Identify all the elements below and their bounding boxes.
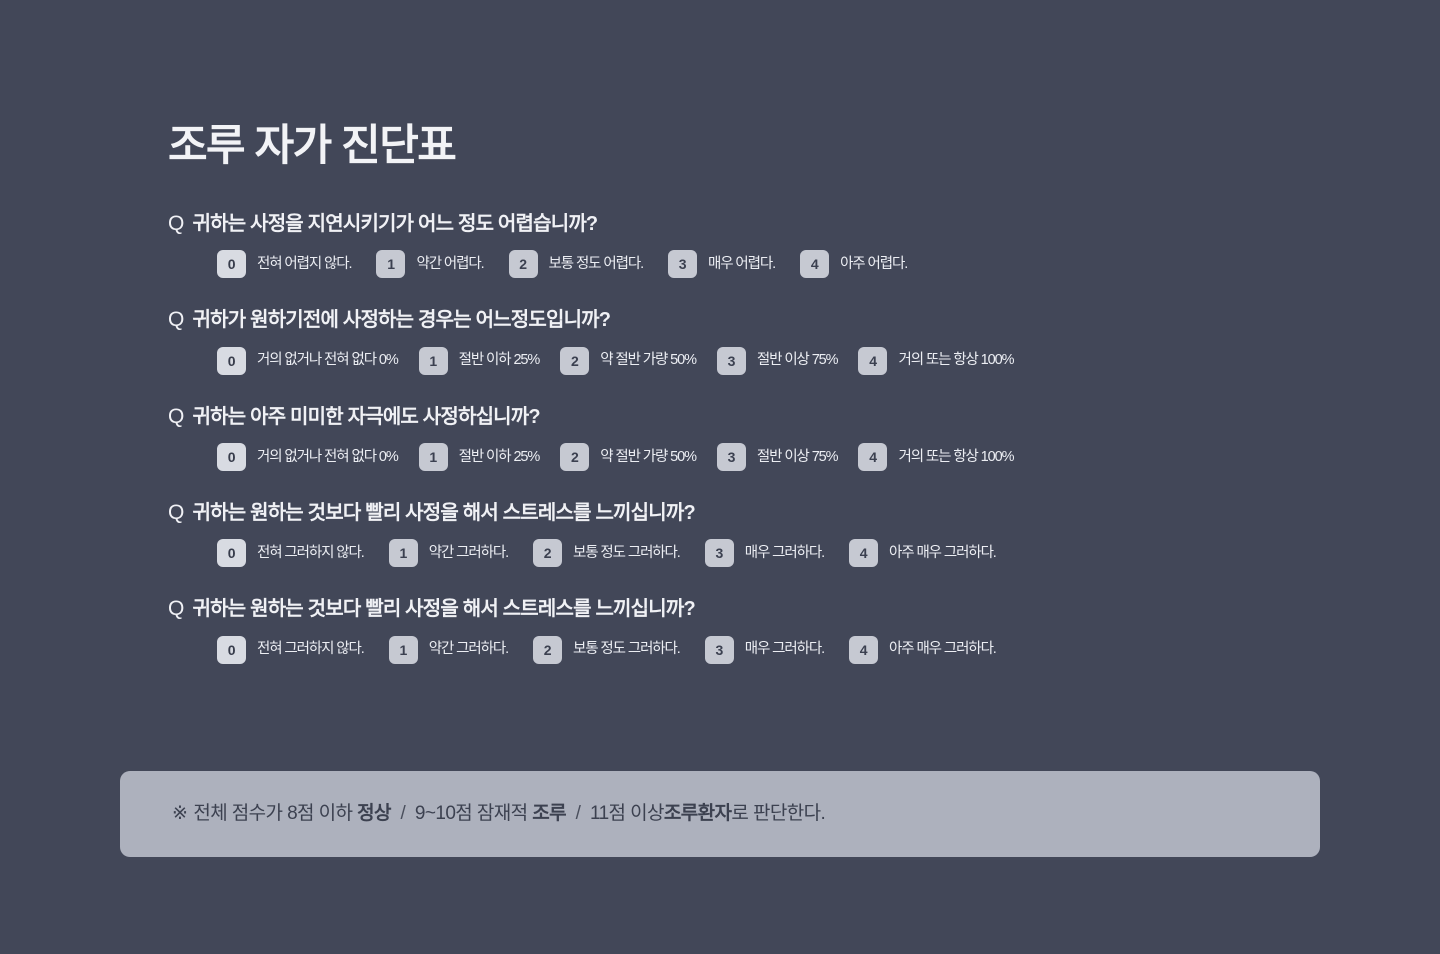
- option-score-badge[interactable]: 4: [849, 539, 878, 567]
- option-row: 0거의 없거나 전혀 없다 0%1절반 이하 25%2약 절반 가량 50%3절…: [168, 443, 1288, 471]
- option-row: 0전혀 그러하지 않다.1약간 그러하다.2보통 정도 그러하다.3매우 그러하…: [168, 636, 1288, 664]
- option-label: 절반 이상 75%: [757, 450, 838, 465]
- question-block: Q귀하는 원하는 것보다 빨리 사정을 해서 스트레스를 느끼십니까?0전혀 그…: [168, 499, 1288, 567]
- note-bold-patient: 조루환자: [664, 803, 732, 824]
- answer-option[interactable]: 0전혀 그러하지 않다.: [217, 539, 364, 567]
- note-part-2: 9~10점 잠재적: [415, 803, 528, 824]
- option-score-badge[interactable]: 4: [849, 636, 878, 664]
- option-label: 아주 어렵다.: [840, 257, 907, 272]
- option-label: 보통 정도 그러하다.: [573, 546, 680, 561]
- option-score-badge[interactable]: 2: [533, 636, 562, 664]
- answer-option[interactable]: 2약 절반 가량 50%: [560, 443, 696, 471]
- note-symbol-icon: ※: [172, 803, 187, 824]
- answer-option[interactable]: 3절반 이상 75%: [717, 347, 838, 375]
- option-label: 거의 없거나 전혀 없다 0%: [257, 353, 398, 368]
- question-block: Q귀하는 아주 미미한 자극에도 사정하십니까?0거의 없거나 전혀 없다 0%…: [168, 403, 1288, 471]
- answer-option[interactable]: 3매우 그러하다.: [705, 539, 824, 567]
- answer-option[interactable]: 1약간 그러하다.: [389, 636, 508, 664]
- score-guide-note: ※전체 점수가 8점 이하 정상 / 9~10점 잠재적 조루 / 11점 이상…: [120, 771, 1320, 857]
- answer-option[interactable]: 2보통 정도 그러하다.: [533, 539, 680, 567]
- answer-option[interactable]: 2보통 정도 그러하다.: [533, 636, 680, 664]
- option-score-badge[interactable]: 4: [858, 347, 887, 375]
- option-label: 약 절반 가량 50%: [600, 450, 696, 465]
- option-score-badge[interactable]: 3: [705, 636, 734, 664]
- note-bold-potential: 조루: [532, 803, 566, 824]
- option-score-badge[interactable]: 3: [668, 250, 697, 278]
- option-score-badge[interactable]: 1: [376, 250, 405, 278]
- option-score-badge[interactable]: 3: [717, 443, 746, 471]
- question-label: 귀하는 사정을 지연시키기가 어느 정도 어렵습니까?: [193, 211, 598, 238]
- answer-option[interactable]: 3매우 그러하다.: [705, 636, 824, 664]
- option-label: 아주 매우 그러하다.: [889, 546, 996, 561]
- answer-option[interactable]: 3절반 이상 75%: [717, 443, 838, 471]
- question-block: Q귀하가 원하기전에 사정하는 경우는 어느정도입니까?0거의 없거나 전혀 없…: [168, 306, 1288, 374]
- option-label: 전혀 그러하지 않다.: [257, 642, 364, 657]
- question-text-row: Q귀하는 원하는 것보다 빨리 사정을 해서 스트레스를 느끼십니까?: [168, 595, 1288, 623]
- answer-option[interactable]: 4아주 매우 그러하다.: [849, 539, 996, 567]
- option-label: 거의 또는 항상 100%: [898, 450, 1013, 465]
- option-score-badge[interactable]: 0: [217, 443, 246, 471]
- option-label: 매우 그러하다.: [745, 546, 824, 561]
- option-label: 보통 정도 어렵다.: [549, 257, 643, 272]
- option-score-badge[interactable]: 2: [560, 347, 589, 375]
- option-score-badge[interactable]: 3: [705, 539, 734, 567]
- answer-option[interactable]: 3매우 어렵다.: [668, 250, 775, 278]
- note-separator-2: /: [576, 803, 581, 824]
- question-text-row: Q귀하는 사정을 지연시키기가 어느 정도 어렵습니까?: [168, 210, 1288, 238]
- note-part-3: 11점 이상: [590, 803, 664, 824]
- option-row: 0전혀 그러하지 않다.1약간 그러하다.2보통 정도 그러하다.3매우 그러하…: [168, 539, 1288, 567]
- question-marker: Q: [168, 595, 184, 623]
- question-marker: Q: [168, 306, 184, 334]
- question-label: 귀하가 원하기전에 사정하는 경우는 어느정도입니까?: [193, 307, 611, 334]
- answer-option[interactable]: 2약 절반 가량 50%: [560, 347, 696, 375]
- answer-option[interactable]: 4아주 어렵다.: [800, 250, 907, 278]
- diagnosis-sheet: 조루 자가 진단표 Q귀하는 사정을 지연시키기가 어느 정도 어렵습니까?0전…: [0, 0, 1440, 954]
- answer-option[interactable]: 0전혀 어렵지 않다.: [217, 250, 351, 278]
- option-score-badge[interactable]: 1: [419, 443, 448, 471]
- option-label: 거의 없거나 전혀 없다 0%: [257, 450, 398, 465]
- answer-option[interactable]: 0전혀 그러하지 않다.: [217, 636, 364, 664]
- option-label: 절반 이상 75%: [757, 353, 838, 368]
- question-label: 귀하는 아주 미미한 자극에도 사정하십니까?: [193, 404, 540, 431]
- option-score-badge[interactable]: 1: [419, 347, 448, 375]
- question-text-row: Q귀하는 아주 미미한 자극에도 사정하십니까?: [168, 403, 1288, 431]
- option-label: 아주 매우 그러하다.: [889, 642, 996, 657]
- question-text-row: Q귀하가 원하기전에 사정하는 경우는 어느정도입니까?: [168, 306, 1288, 334]
- question-label: 귀하는 원하는 것보다 빨리 사정을 해서 스트레스를 느끼십니까?: [193, 500, 695, 527]
- answer-option[interactable]: 1절반 이하 25%: [419, 347, 540, 375]
- answer-option[interactable]: 1약간 그러하다.: [389, 539, 508, 567]
- option-score-badge[interactable]: 3: [717, 347, 746, 375]
- note-part-4: 로 판단한다.: [731, 803, 825, 824]
- answer-option[interactable]: 4아주 매우 그러하다.: [849, 636, 996, 664]
- question-block: Q귀하는 사정을 지연시키기가 어느 정도 어렵습니까?0전혀 어렵지 않다.1…: [168, 210, 1288, 278]
- option-score-badge[interactable]: 0: [217, 636, 246, 664]
- option-label: 약 절반 가량 50%: [600, 353, 696, 368]
- option-label: 거의 또는 항상 100%: [898, 353, 1013, 368]
- option-label: 약간 어렵다.: [416, 257, 483, 272]
- answer-option[interactable]: 1약간 어렵다.: [376, 250, 483, 278]
- question-text-row: Q귀하는 원하는 것보다 빨리 사정을 해서 스트레스를 느끼십니까?: [168, 499, 1288, 527]
- note-part-1: 전체 점수가 8점 이하: [193, 803, 352, 824]
- answer-option[interactable]: 4거의 또는 항상 100%: [858, 443, 1013, 471]
- option-label: 약간 그러하다.: [429, 642, 508, 657]
- option-row: 0거의 없거나 전혀 없다 0%1절반 이하 25%2약 절반 가량 50%3절…: [168, 347, 1288, 375]
- score-guide-text: ※전체 점수가 8점 이하 정상 / 9~10점 잠재적 조루 / 11점 이상…: [172, 802, 825, 827]
- option-score-badge[interactable]: 2: [533, 539, 562, 567]
- option-score-badge[interactable]: 0: [217, 250, 246, 278]
- page-title: 조루 자가 진단표: [168, 122, 455, 171]
- question-marker: Q: [168, 499, 184, 527]
- option-score-badge[interactable]: 0: [217, 347, 246, 375]
- option-score-badge[interactable]: 4: [858, 443, 887, 471]
- answer-option[interactable]: 4거의 또는 항상 100%: [858, 347, 1013, 375]
- answer-option[interactable]: 0거의 없거나 전혀 없다 0%: [217, 347, 398, 375]
- option-row: 0전혀 어렵지 않다.1약간 어렵다.2보통 정도 어렵다.3매우 어렵다.4아…: [168, 250, 1288, 278]
- question-block: Q귀하는 원하는 것보다 빨리 사정을 해서 스트레스를 느끼십니까?0전혀 그…: [168, 595, 1288, 663]
- option-score-badge[interactable]: 2: [560, 443, 589, 471]
- question-list: Q귀하는 사정을 지연시키기가 어느 정도 어렵습니까?0전혀 어렵지 않다.1…: [168, 210, 1288, 664]
- option-label: 전혀 그러하지 않다.: [257, 546, 364, 561]
- option-score-badge[interactable]: 4: [800, 250, 829, 278]
- answer-option[interactable]: 0거의 없거나 전혀 없다 0%: [217, 443, 398, 471]
- question-marker: Q: [168, 210, 184, 238]
- option-label: 매우 어렵다.: [708, 257, 775, 272]
- option-label: 약간 그러하다.: [429, 546, 508, 561]
- answer-option[interactable]: 1절반 이하 25%: [419, 443, 540, 471]
- note-separator-1: /: [401, 803, 406, 824]
- option-label: 전혀 어렵지 않다.: [257, 257, 351, 272]
- option-label: 매우 그러하다.: [745, 642, 824, 657]
- question-label: 귀하는 원하는 것보다 빨리 사정을 해서 스트레스를 느끼십니까?: [193, 596, 695, 623]
- option-score-badge[interactable]: 1: [389, 539, 418, 567]
- option-label: 절반 이하 25%: [459, 353, 540, 368]
- option-label: 보통 정도 그러하다.: [573, 642, 680, 657]
- answer-option[interactable]: 2보통 정도 어렵다.: [509, 250, 643, 278]
- option-score-badge[interactable]: 1: [389, 636, 418, 664]
- note-bold-normal: 정상: [357, 803, 391, 824]
- option-label: 절반 이하 25%: [459, 450, 540, 465]
- question-marker: Q: [168, 403, 184, 431]
- option-score-badge[interactable]: 2: [509, 250, 538, 278]
- option-score-badge[interactable]: 0: [217, 539, 246, 567]
